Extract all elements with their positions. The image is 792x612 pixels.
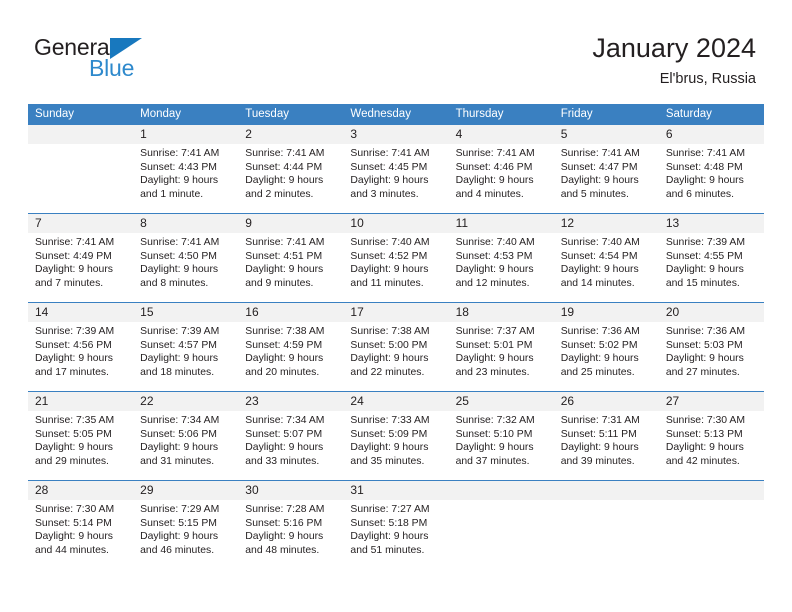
day-cell-empty bbox=[449, 500, 554, 569]
weekday-header-tuesday: Tuesday bbox=[238, 104, 343, 125]
day-detail-line: Sunset: 5:01 PM bbox=[456, 339, 548, 353]
day-number-26[interactable]: 26 bbox=[554, 392, 659, 411]
day-cell-22[interactable]: Sunrise: 7:34 AMSunset: 5:06 PMDaylight:… bbox=[133, 411, 238, 480]
day-cell-21[interactable]: Sunrise: 7:35 AMSunset: 5:05 PMDaylight:… bbox=[28, 411, 133, 480]
day-detail-line: Sunrise: 7:41 AM bbox=[140, 236, 232, 250]
day-cell-31[interactable]: Sunrise: 7:27 AMSunset: 5:18 PMDaylight:… bbox=[343, 500, 448, 569]
day-detail-line: Daylight: 9 hours bbox=[561, 352, 653, 366]
day-number-3[interactable]: 3 bbox=[343, 125, 448, 144]
day-detail-line: Daylight: 9 hours bbox=[456, 263, 548, 277]
week-detail-strip: Sunrise: 7:41 AMSunset: 4:43 PMDaylight:… bbox=[28, 144, 764, 213]
day-number-11[interactable]: 11 bbox=[449, 214, 554, 233]
day-number-6[interactable]: 6 bbox=[659, 125, 764, 144]
weekday-header-thursday: Thursday bbox=[449, 104, 554, 125]
day-detail-line: Sunrise: 7:29 AM bbox=[140, 503, 232, 517]
day-detail-line: Daylight: 9 hours bbox=[350, 530, 442, 544]
day-number-empty bbox=[449, 481, 554, 500]
day-detail-line: Sunrise: 7:41 AM bbox=[561, 147, 653, 161]
weekday-header-row: SundayMondayTuesdayWednesdayThursdayFrid… bbox=[28, 104, 764, 125]
day-cell-28[interactable]: Sunrise: 7:30 AMSunset: 5:14 PMDaylight:… bbox=[28, 500, 133, 569]
day-detail-line: Sunset: 5:03 PM bbox=[666, 339, 758, 353]
day-cell-12[interactable]: Sunrise: 7:40 AMSunset: 4:54 PMDaylight:… bbox=[554, 233, 659, 302]
day-number-31[interactable]: 31 bbox=[343, 481, 448, 500]
day-detail-line: Sunset: 4:48 PM bbox=[666, 161, 758, 175]
day-detail-line: Sunrise: 7:41 AM bbox=[245, 147, 337, 161]
day-cell-30[interactable]: Sunrise: 7:28 AMSunset: 5:16 PMDaylight:… bbox=[238, 500, 343, 569]
calendar-page: General Blue January 2024 El'brus, Russi… bbox=[0, 0, 792, 612]
day-detail-line: and 5 minutes. bbox=[561, 188, 653, 202]
week-detail-strip: Sunrise: 7:41 AMSunset: 4:49 PMDaylight:… bbox=[28, 233, 764, 302]
day-detail-line: Daylight: 9 hours bbox=[561, 174, 653, 188]
day-detail-line: Daylight: 9 hours bbox=[140, 441, 232, 455]
calendar-grid: SundayMondayTuesdayWednesdayThursdayFrid… bbox=[28, 104, 764, 569]
week-daynumber-strip: 14151617181920 bbox=[28, 303, 764, 322]
day-detail-line: Daylight: 9 hours bbox=[35, 441, 127, 455]
day-number-2[interactable]: 2 bbox=[238, 125, 343, 144]
day-detail-line: and 31 minutes. bbox=[140, 455, 232, 469]
week-daynumber-strip: 78910111213 bbox=[28, 214, 764, 233]
day-detail-line: Sunrise: 7:40 AM bbox=[350, 236, 442, 250]
day-cell-7[interactable]: Sunrise: 7:41 AMSunset: 4:49 PMDaylight:… bbox=[28, 233, 133, 302]
day-detail-line: Sunset: 4:52 PM bbox=[350, 250, 442, 264]
day-detail-line: Sunset: 4:56 PM bbox=[35, 339, 127, 353]
day-detail-line: and 25 minutes. bbox=[561, 366, 653, 380]
day-detail-line: Sunrise: 7:41 AM bbox=[140, 147, 232, 161]
day-detail-line: Daylight: 9 hours bbox=[666, 441, 758, 455]
day-cell-8[interactable]: Sunrise: 7:41 AMSunset: 4:50 PMDaylight:… bbox=[133, 233, 238, 302]
page-header: General Blue January 2024 El'brus, Russi… bbox=[0, 0, 792, 104]
day-detail-line: and 20 minutes. bbox=[245, 366, 337, 380]
day-number-8[interactable]: 8 bbox=[133, 214, 238, 233]
day-cell-18[interactable]: Sunrise: 7:37 AMSunset: 5:01 PMDaylight:… bbox=[449, 322, 554, 391]
day-detail-line: Sunset: 4:43 PM bbox=[140, 161, 232, 175]
day-detail-line: and 12 minutes. bbox=[456, 277, 548, 291]
day-detail-line: Sunset: 5:02 PM bbox=[561, 339, 653, 353]
day-detail-line: and 44 minutes. bbox=[35, 544, 127, 558]
day-cell-11[interactable]: Sunrise: 7:40 AMSunset: 4:53 PMDaylight:… bbox=[449, 233, 554, 302]
day-cell-9[interactable]: Sunrise: 7:41 AMSunset: 4:51 PMDaylight:… bbox=[238, 233, 343, 302]
day-detail-line: Daylight: 9 hours bbox=[140, 352, 232, 366]
day-cell-6[interactable]: Sunrise: 7:41 AMSunset: 4:48 PMDaylight:… bbox=[659, 144, 764, 213]
day-number-18[interactable]: 18 bbox=[449, 303, 554, 322]
weekday-header-monday: Monday bbox=[133, 104, 238, 125]
day-detail-line: Sunset: 4:45 PM bbox=[350, 161, 442, 175]
day-detail-line: and 23 minutes. bbox=[456, 366, 548, 380]
day-detail-line: Daylight: 9 hours bbox=[35, 530, 127, 544]
day-number-4[interactable]: 4 bbox=[449, 125, 554, 144]
day-number-17[interactable]: 17 bbox=[343, 303, 448, 322]
week-daynumber-strip: 123456 bbox=[28, 125, 764, 144]
day-number-19[interactable]: 19 bbox=[554, 303, 659, 322]
day-detail-line: Daylight: 9 hours bbox=[245, 530, 337, 544]
day-detail-line: Sunset: 5:15 PM bbox=[140, 517, 232, 531]
day-cell-19[interactable]: Sunrise: 7:36 AMSunset: 5:02 PMDaylight:… bbox=[554, 322, 659, 391]
weekday-header-sunday: Sunday bbox=[28, 104, 133, 125]
day-number-21[interactable]: 21 bbox=[28, 392, 133, 411]
day-number-12[interactable]: 12 bbox=[554, 214, 659, 233]
day-number-28[interactable]: 28 bbox=[28, 481, 133, 500]
page-title: January 2024 bbox=[592, 32, 756, 64]
day-number-10[interactable]: 10 bbox=[343, 214, 448, 233]
day-detail-line: Sunset: 5:06 PM bbox=[140, 428, 232, 442]
day-detail-line: Daylight: 9 hours bbox=[35, 352, 127, 366]
day-detail-line: Daylight: 9 hours bbox=[350, 441, 442, 455]
day-detail-line: and 22 minutes. bbox=[350, 366, 442, 380]
day-detail-line: Sunrise: 7:41 AM bbox=[35, 236, 127, 250]
day-detail-line: and 29 minutes. bbox=[35, 455, 127, 469]
day-cell-17[interactable]: Sunrise: 7:38 AMSunset: 5:00 PMDaylight:… bbox=[343, 322, 448, 391]
title-block: January 2024 El'brus, Russia bbox=[592, 32, 756, 89]
day-detail-line: Daylight: 9 hours bbox=[245, 441, 337, 455]
week-daynumber-strip: 28293031 bbox=[28, 481, 764, 500]
day-number-5[interactable]: 5 bbox=[554, 125, 659, 144]
day-detail-line: Sunrise: 7:33 AM bbox=[350, 414, 442, 428]
day-detail-line: and 37 minutes. bbox=[456, 455, 548, 469]
day-detail-line: Sunrise: 7:36 AM bbox=[666, 325, 758, 339]
day-detail-line: and 42 minutes. bbox=[666, 455, 758, 469]
day-detail-line: and 17 minutes. bbox=[35, 366, 127, 380]
day-detail-line: Sunset: 5:14 PM bbox=[35, 517, 127, 531]
calendar-week-row: 123456Sunrise: 7:41 AMSunset: 4:43 PMDay… bbox=[28, 125, 764, 213]
day-cell-5[interactable]: Sunrise: 7:41 AMSunset: 4:47 PMDaylight:… bbox=[554, 144, 659, 213]
day-detail-line: Sunset: 4:59 PM bbox=[245, 339, 337, 353]
day-cell-16[interactable]: Sunrise: 7:38 AMSunset: 4:59 PMDaylight:… bbox=[238, 322, 343, 391]
day-detail-line: Sunrise: 7:37 AM bbox=[456, 325, 548, 339]
day-detail-line: and 6 minutes. bbox=[666, 188, 758, 202]
day-cell-empty bbox=[28, 144, 133, 213]
day-cell-29[interactable]: Sunrise: 7:29 AMSunset: 5:15 PMDaylight:… bbox=[133, 500, 238, 569]
day-detail-line: Daylight: 9 hours bbox=[350, 174, 442, 188]
day-detail-line: and 48 minutes. bbox=[245, 544, 337, 558]
day-detail-line: Sunrise: 7:31 AM bbox=[561, 414, 653, 428]
day-detail-line: Sunrise: 7:27 AM bbox=[350, 503, 442, 517]
page-subtitle: El'brus, Russia bbox=[592, 69, 756, 89]
week-detail-strip: Sunrise: 7:35 AMSunset: 5:05 PMDaylight:… bbox=[28, 411, 764, 480]
day-detail-line: Sunset: 4:57 PM bbox=[140, 339, 232, 353]
day-detail-line: Daylight: 9 hours bbox=[456, 441, 548, 455]
day-detail-line: Sunrise: 7:38 AM bbox=[245, 325, 337, 339]
day-detail-line: Daylight: 9 hours bbox=[35, 263, 127, 277]
weekday-header-wednesday: Wednesday bbox=[343, 104, 448, 125]
day-detail-line: Sunrise: 7:30 AM bbox=[666, 414, 758, 428]
day-detail-line: Sunrise: 7:38 AM bbox=[350, 325, 442, 339]
day-detail-line: Sunset: 4:53 PM bbox=[456, 250, 548, 264]
day-number-14[interactable]: 14 bbox=[28, 303, 133, 322]
day-detail-line: and 11 minutes. bbox=[350, 277, 442, 291]
day-number-15[interactable]: 15 bbox=[133, 303, 238, 322]
day-detail-line: Sunset: 4:54 PM bbox=[561, 250, 653, 264]
day-detail-line: Sunset: 4:55 PM bbox=[666, 250, 758, 264]
calendar-week-row: 28293031Sunrise: 7:30 AMSunset: 5:14 PMD… bbox=[28, 480, 764, 569]
brand-logo: General Blue bbox=[34, 34, 214, 86]
brand-name-secondary: Blue bbox=[89, 55, 134, 82]
day-number-25[interactable]: 25 bbox=[449, 392, 554, 411]
day-cell-14[interactable]: Sunrise: 7:39 AMSunset: 4:56 PMDaylight:… bbox=[28, 322, 133, 391]
day-number-16[interactable]: 16 bbox=[238, 303, 343, 322]
weekday-header-saturday: Saturday bbox=[659, 104, 764, 125]
day-detail-line: and 3 minutes. bbox=[350, 188, 442, 202]
day-detail-line: and 14 minutes. bbox=[561, 277, 653, 291]
day-detail-line: and 51 minutes. bbox=[350, 544, 442, 558]
day-detail-line: and 8 minutes. bbox=[140, 277, 232, 291]
week-daynumber-strip: 21222324252627 bbox=[28, 392, 764, 411]
day-detail-line: Sunset: 5:09 PM bbox=[350, 428, 442, 442]
day-detail-line: Sunset: 5:13 PM bbox=[666, 428, 758, 442]
day-cell-10[interactable]: Sunrise: 7:40 AMSunset: 4:52 PMDaylight:… bbox=[343, 233, 448, 302]
day-detail-line: Sunset: 4:47 PM bbox=[561, 161, 653, 175]
day-detail-line: Sunset: 4:50 PM bbox=[140, 250, 232, 264]
day-detail-line: and 39 minutes. bbox=[561, 455, 653, 469]
calendar-weeks: 123456Sunrise: 7:41 AMSunset: 4:43 PMDay… bbox=[28, 125, 764, 569]
day-detail-line: Sunrise: 7:39 AM bbox=[140, 325, 232, 339]
day-number-empty bbox=[659, 481, 764, 500]
day-detail-line: Sunset: 5:07 PM bbox=[245, 428, 337, 442]
day-detail-line: Sunrise: 7:41 AM bbox=[350, 147, 442, 161]
day-detail-line: and 2 minutes. bbox=[245, 188, 337, 202]
day-number-13[interactable]: 13 bbox=[659, 214, 764, 233]
day-detail-line: Daylight: 9 hours bbox=[666, 263, 758, 277]
day-cell-3[interactable]: Sunrise: 7:41 AMSunset: 4:45 PMDaylight:… bbox=[343, 144, 448, 213]
day-cell-2[interactable]: Sunrise: 7:41 AMSunset: 4:44 PMDaylight:… bbox=[238, 144, 343, 213]
day-detail-line: Sunset: 5:00 PM bbox=[350, 339, 442, 353]
day-detail-line: Daylight: 9 hours bbox=[140, 174, 232, 188]
day-detail-line: Sunrise: 7:32 AM bbox=[456, 414, 548, 428]
day-detail-line: Sunrise: 7:28 AM bbox=[245, 503, 337, 517]
day-cell-empty bbox=[659, 500, 764, 569]
day-cell-27[interactable]: Sunrise: 7:30 AMSunset: 5:13 PMDaylight:… bbox=[659, 411, 764, 480]
day-detail-line: Sunrise: 7:41 AM bbox=[245, 236, 337, 250]
day-cell-1[interactable]: Sunrise: 7:41 AMSunset: 4:43 PMDaylight:… bbox=[133, 144, 238, 213]
day-detail-line: Sunset: 4:49 PM bbox=[35, 250, 127, 264]
day-cell-23[interactable]: Sunrise: 7:34 AMSunset: 5:07 PMDaylight:… bbox=[238, 411, 343, 480]
day-number-20[interactable]: 20 bbox=[659, 303, 764, 322]
day-detail-line: Daylight: 9 hours bbox=[245, 352, 337, 366]
day-detail-line: Sunset: 5:11 PM bbox=[561, 428, 653, 442]
day-detail-line: Daylight: 9 hours bbox=[350, 352, 442, 366]
day-cell-24[interactable]: Sunrise: 7:33 AMSunset: 5:09 PMDaylight:… bbox=[343, 411, 448, 480]
day-number-empty bbox=[28, 125, 133, 144]
week-detail-strip: Sunrise: 7:39 AMSunset: 4:56 PMDaylight:… bbox=[28, 322, 764, 391]
day-cell-empty bbox=[554, 500, 659, 569]
day-detail-line: and 33 minutes. bbox=[245, 455, 337, 469]
week-detail-strip: Sunrise: 7:30 AMSunset: 5:14 PMDaylight:… bbox=[28, 500, 764, 569]
day-detail-line: Daylight: 9 hours bbox=[140, 263, 232, 277]
day-number-empty bbox=[554, 481, 659, 500]
day-number-22[interactable]: 22 bbox=[133, 392, 238, 411]
day-detail-line: Sunset: 5:10 PM bbox=[456, 428, 548, 442]
day-detail-line: and 9 minutes. bbox=[245, 277, 337, 291]
day-detail-line: Sunrise: 7:35 AM bbox=[35, 414, 127, 428]
day-detail-line: Sunset: 5:18 PM bbox=[350, 517, 442, 531]
day-detail-line: Daylight: 9 hours bbox=[561, 263, 653, 277]
day-detail-line: Sunrise: 7:41 AM bbox=[666, 147, 758, 161]
day-cell-15[interactable]: Sunrise: 7:39 AMSunset: 4:57 PMDaylight:… bbox=[133, 322, 238, 391]
day-detail-line: Sunrise: 7:30 AM bbox=[35, 503, 127, 517]
day-cell-25[interactable]: Sunrise: 7:32 AMSunset: 5:10 PMDaylight:… bbox=[449, 411, 554, 480]
day-detail-line: Sunset: 4:46 PM bbox=[456, 161, 548, 175]
day-detail-line: and 18 minutes. bbox=[140, 366, 232, 380]
day-detail-line: Daylight: 9 hours bbox=[456, 174, 548, 188]
day-number-9[interactable]: 9 bbox=[238, 214, 343, 233]
day-detail-line: and 7 minutes. bbox=[35, 277, 127, 291]
day-detail-line: Daylight: 9 hours bbox=[140, 530, 232, 544]
day-detail-line: and 1 minute. bbox=[140, 188, 232, 202]
day-detail-line: Sunrise: 7:39 AM bbox=[35, 325, 127, 339]
calendar-week-row: 21222324252627Sunrise: 7:35 AMSunset: 5:… bbox=[28, 391, 764, 480]
day-detail-line: Sunrise: 7:34 AM bbox=[140, 414, 232, 428]
day-detail-line: Sunset: 4:51 PM bbox=[245, 250, 337, 264]
day-detail-line: and 27 minutes. bbox=[666, 366, 758, 380]
day-cell-26[interactable]: Sunrise: 7:31 AMSunset: 5:11 PMDaylight:… bbox=[554, 411, 659, 480]
day-detail-line: Sunrise: 7:36 AM bbox=[561, 325, 653, 339]
day-detail-line: Daylight: 9 hours bbox=[666, 174, 758, 188]
day-number-23[interactable]: 23 bbox=[238, 392, 343, 411]
day-detail-line: Daylight: 9 hours bbox=[245, 174, 337, 188]
day-detail-line: Sunrise: 7:39 AM bbox=[666, 236, 758, 250]
day-detail-line: Daylight: 9 hours bbox=[561, 441, 653, 455]
day-number-7[interactable]: 7 bbox=[28, 214, 133, 233]
day-cell-4[interactable]: Sunrise: 7:41 AMSunset: 4:46 PMDaylight:… bbox=[449, 144, 554, 213]
day-detail-line: and 4 minutes. bbox=[456, 188, 548, 202]
calendar-week-row: 78910111213Sunrise: 7:41 AMSunset: 4:49 … bbox=[28, 213, 764, 302]
calendar-week-row: 14151617181920Sunrise: 7:39 AMSunset: 4:… bbox=[28, 302, 764, 391]
day-detail-line: Sunrise: 7:41 AM bbox=[456, 147, 548, 161]
day-cell-20[interactable]: Sunrise: 7:36 AMSunset: 5:03 PMDaylight:… bbox=[659, 322, 764, 391]
day-detail-line: Sunset: 5:05 PM bbox=[35, 428, 127, 442]
day-detail-line: and 35 minutes. bbox=[350, 455, 442, 469]
day-detail-line: Sunrise: 7:40 AM bbox=[561, 236, 653, 250]
day-detail-line: Daylight: 9 hours bbox=[666, 352, 758, 366]
day-number-29[interactable]: 29 bbox=[133, 481, 238, 500]
day-number-30[interactable]: 30 bbox=[238, 481, 343, 500]
day-detail-line: Daylight: 9 hours bbox=[350, 263, 442, 277]
day-cell-13[interactable]: Sunrise: 7:39 AMSunset: 4:55 PMDaylight:… bbox=[659, 233, 764, 302]
day-number-24[interactable]: 24 bbox=[343, 392, 448, 411]
day-number-27[interactable]: 27 bbox=[659, 392, 764, 411]
day-detail-line: Sunset: 4:44 PM bbox=[245, 161, 337, 175]
day-detail-line: Daylight: 9 hours bbox=[456, 352, 548, 366]
day-detail-line: and 15 minutes. bbox=[666, 277, 758, 291]
day-detail-line: Daylight: 9 hours bbox=[245, 263, 337, 277]
day-detail-line: and 46 minutes. bbox=[140, 544, 232, 558]
day-detail-line: Sunrise: 7:40 AM bbox=[456, 236, 548, 250]
day-detail-line: Sunset: 5:16 PM bbox=[245, 517, 337, 531]
weekday-header-friday: Friday bbox=[554, 104, 659, 125]
day-detail-line: Sunrise: 7:34 AM bbox=[245, 414, 337, 428]
day-number-1[interactable]: 1 bbox=[133, 125, 238, 144]
